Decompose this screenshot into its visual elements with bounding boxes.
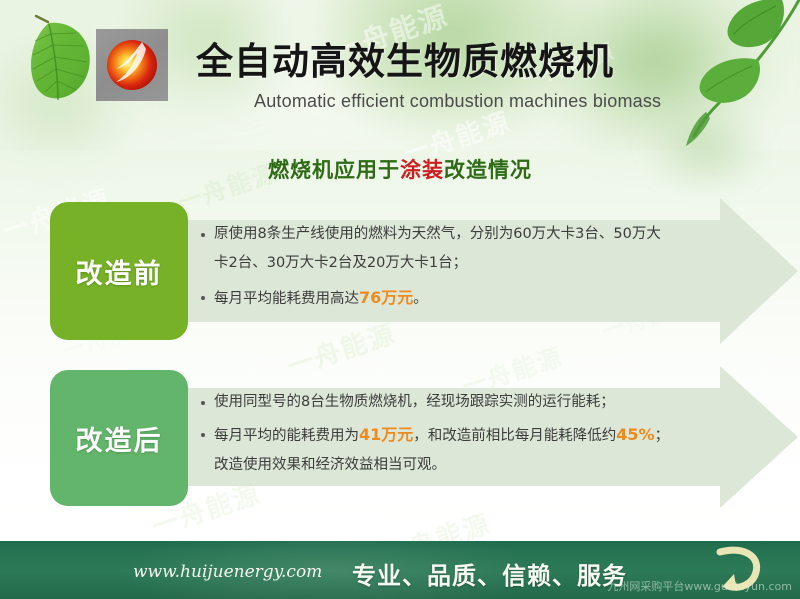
- bullet-list-before: 原使用8条生产线使用的燃料为天然气，分别为60万大卡3台、50万大卡2台、30万…: [200, 220, 670, 314]
- section-title-prefix: 燃烧机应用于: [268, 158, 400, 182]
- list-item: 每月平均能耗费用高达76万元。: [200, 283, 670, 314]
- footer-slogan: 专业、品质、信赖、服务: [352, 556, 627, 591]
- bullet-text: 每月平均的能耗费用为: [214, 428, 359, 444]
- footer-website[interactable]: www.huijuenergy.com: [133, 562, 322, 582]
- label-after: 改造后: [50, 370, 188, 506]
- bullet-list-after: 使用同型号的8台生物质燃烧机，经现场跟踪实测的运行能耗； 每月平均的能耗费用为4…: [200, 388, 670, 480]
- section-title-highlight: 涂装: [400, 158, 444, 182]
- footer-watermark: 九州网采购平台www.guoluyun.com: [607, 578, 792, 594]
- arrow-head: [720, 366, 798, 508]
- highlight-percent: 45%: [616, 425, 654, 444]
- flame-circle-logo-icon: [104, 37, 160, 93]
- bullet-text: 使用同型号的8台生物质燃烧机，经现场跟踪实测的运行能耗；: [214, 394, 615, 410]
- label-before: 改造前: [50, 202, 188, 340]
- section-title: 燃烧机应用于涂装改造情况: [0, 154, 800, 184]
- highlight-amount: 41万元: [359, 425, 413, 444]
- bullet-text: 。: [413, 291, 428, 307]
- slide: 一舟能源 一舟能源 一舟能源 一舟能源 一舟能源 一舟能源 一舟能源 一舟能源 …: [0, 0, 800, 599]
- arrow-head: [720, 198, 798, 344]
- bullet-text: ，和改造前相比每月能耗降低约: [413, 428, 616, 444]
- section-title-suffix: 改造情况: [444, 158, 532, 182]
- leaf-icon: [18, 14, 102, 110]
- list-item: 使用同型号的8台生物质燃烧机，经现场跟踪实测的运行能耗；: [200, 388, 670, 417]
- list-item: 原使用8条生产线使用的燃料为天然气，分别为60万大卡3台、50万大卡2台、30万…: [200, 220, 670, 278]
- highlight-amount: 76万元: [359, 288, 413, 307]
- page-title: 全自动高效生物质燃烧机: [196, 31, 614, 85]
- bullet-text: 每月平均能耗费用高达: [214, 291, 359, 307]
- bullet-text: 原使用8条生产线使用的燃料为天然气，分别为60万大卡3台、50万大卡2台、30万…: [214, 226, 661, 271]
- page-subtitle: Automatic efficient combustion machines …: [254, 91, 661, 112]
- list-item: 每月平均的能耗费用为41万元，和改造前相比每月能耗降低约45%；改造使用效果和经…: [200, 420, 670, 480]
- vine-leaves-icon: [684, 0, 800, 154]
- company-logo: [96, 29, 168, 101]
